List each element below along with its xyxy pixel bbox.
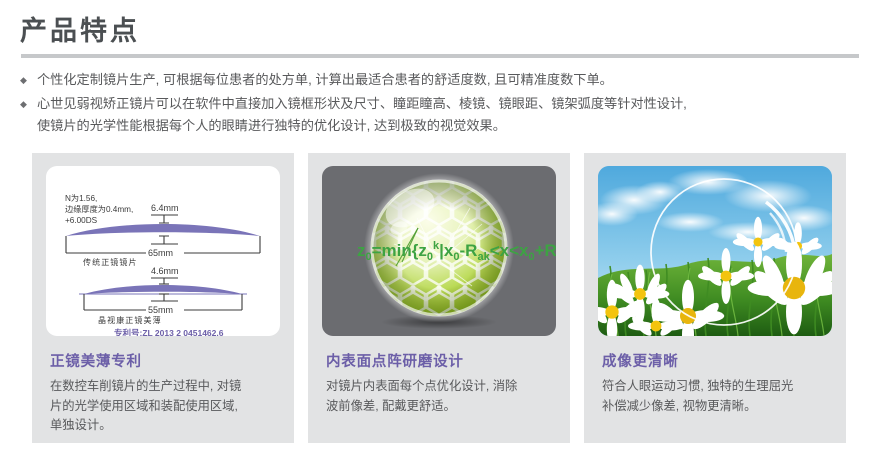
card-title: 内表面点阵研磨设计 [326, 350, 570, 371]
card-body: 在数控车削镜片的生产过程中, 对镜 片的光学使用区域和装配使用区域, 单独设计。 [50, 377, 278, 436]
feature-card-clear-imaging[interactable]: 成像更清晰 符合人眼运动习惯, 独特的生理屈光 补偿减少像差, 视物更清晰。 [584, 153, 846, 443]
card-body-line: 单独设计。 [50, 416, 278, 436]
card-body-line: 波前像差, 配戴更舒适。 [326, 397, 554, 417]
lens-diagram-panel: N为1.56, 边缘厚度为0.4mm, +6.00DS 6.4mm 65mm [46, 166, 280, 336]
top-lens-caption: 传统正镜镜片 [83, 257, 138, 267]
bottom-thickness-label: 4.6mm [151, 266, 179, 276]
card-title: 成像更清晰 [602, 350, 846, 371]
top-thickness-label: 6.4mm [151, 203, 179, 213]
spec-line-2: 边缘厚度为0.4mm, [65, 204, 133, 214]
spec-line-3: +6.00DS [65, 216, 98, 225]
card-title: 正镜美薄专利 [50, 350, 294, 371]
page-header: 产品特点 [0, 0, 876, 58]
spec-line-1: N为1.56, [65, 193, 97, 203]
daisies-meadow-image [598, 166, 832, 336]
card-body-line: 对镜片内表面每个点优化设计, 消除 [326, 377, 554, 397]
bottom-diameter-label: 55mm [148, 305, 173, 315]
bullet-text-continued: 使镜片的光学性能根据每个人的眼睛进行独特的优化设计, 达到极致的视觉效果。 [37, 115, 876, 138]
page-title: 产品特点 [20, 14, 876, 48]
bullet-text: 个性化定制镜片生产, 可根据每位患者的处方单, 计算出最适合患者的舒适度数, 且… [37, 69, 876, 92]
flowers-photo-panel [598, 166, 832, 336]
feature-bullet-list: ◆ 个性化定制镜片生产, 可根据每位患者的处方单, 计算出最适合患者的舒适度数,… [0, 69, 876, 138]
patent-number: 专利号:ZL 2013 2 0451462.6 [114, 328, 224, 336]
feature-cards-row: N为1.56, 边缘厚度为0.4mm, +6.00DS 6.4mm 65mm [32, 153, 846, 443]
card-body-line: 在数控车削镜片的生产过程中, 对镜 [50, 377, 278, 397]
bottom-lens-caption: 晶视康正镜美薄 [98, 315, 162, 325]
feature-card-lens-patent[interactable]: N为1.56, 边缘厚度为0.4mm, +6.00DS 6.4mm 65mm [32, 153, 294, 443]
honeycomb-sphere-panel: z0=min{z0k|x0-Rak<x<x0+Rak} [322, 166, 556, 336]
traditional-lens-shape [66, 224, 260, 236]
diamond-bullet-icon: ◆ [20, 69, 27, 92]
title-divider [21, 54, 859, 58]
honeycomb-sphere-graphic: z0=min{z0k|x0-Rak<x<x0+Rak} [322, 166, 556, 336]
list-item: ◆ 个性化定制镜片生产, 可根据每位患者的处方单, 计算出最适合患者的舒适度数,… [20, 69, 876, 92]
card-body: 对镜片内表面每个点优化设计, 消除 波前像差, 配戴更舒适。 [326, 377, 554, 416]
list-item: ◆ 心世见弱视矫正镜片可以在软件中直接加入镜框形状及尺寸、瞳距瞳高、棱镜、镜眼距… [20, 93, 876, 138]
card-body-line: 符合人眼运动习惯, 独特的生理屈光 [602, 377, 830, 397]
lens-comparison-diagram: N为1.56, 边缘厚度为0.4mm, +6.00DS 6.4mm 65mm [46, 166, 280, 336]
top-diameter-label: 65mm [148, 248, 173, 258]
card-body-line: 片的光学使用区域和装配使用区域, [50, 397, 278, 417]
diamond-bullet-icon: ◆ [20, 93, 27, 116]
thin-lens-shape [84, 285, 242, 294]
card-body-line: 补偿减少像差, 视物更清晰。 [602, 397, 830, 417]
feature-card-dot-matrix[interactable]: z0=min{z0k|x0-Rak<x<x0+Rak} 内表面点阵研磨设计 对镜… [308, 153, 570, 443]
card-body: 符合人眼运动习惯, 独特的生理屈光 补偿减少像差, 视物更清晰。 [602, 377, 830, 416]
bullet-text: 心世见弱视矫正镜片可以在软件中直接加入镜框形状及尺寸、瞳距瞳高、棱镜、镜眼距、镜… [37, 93, 876, 116]
